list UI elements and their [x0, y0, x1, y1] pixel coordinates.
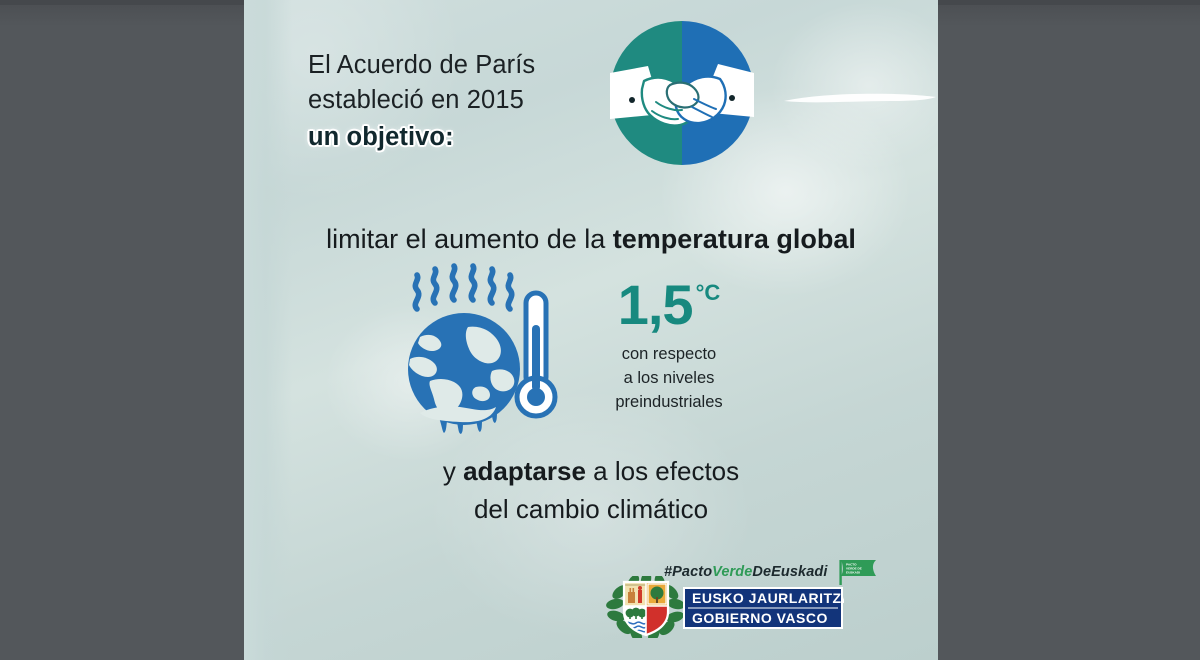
- temperature-note-line-2: a los niveles: [574, 366, 764, 390]
- headline-objective: un objetivo:: [308, 120, 454, 155]
- warming-globe-icon: [386, 263, 566, 435]
- temperature-target-block: 1,5°C con respecto a los niveles preindu…: [574, 276, 764, 414]
- adaptation-line-1: y adaptarse a los efectos: [244, 452, 938, 490]
- main-statement: limitar el aumento de la temperatura glo…: [244, 222, 938, 256]
- adaptation-line-2: del cambio climático: [244, 490, 938, 528]
- adaptation-statement: y adaptarse a los efectos del cambio cli…: [244, 452, 938, 528]
- main-statement-emphasis: temperatura global: [613, 224, 856, 254]
- temperature-note: con respecto a los niveles preindustrial…: [574, 342, 764, 414]
- headline-line-2: estableció en 2015: [308, 83, 638, 118]
- headline-line-1: El Acuerdo de París: [308, 48, 638, 83]
- temperature-note-line-3: preindustriales: [574, 390, 764, 414]
- temperature-readout: 1,5°C: [574, 276, 764, 334]
- headline-block: El Acuerdo de París estableció en 2015 u…: [308, 48, 638, 155]
- video-player-viewport: El Acuerdo de París estableció en 2015 u…: [0, 0, 1200, 660]
- temperature-note-line-1: con respecto: [574, 342, 764, 366]
- temperature-unit: °C: [696, 282, 721, 304]
- govt-name-line-1: EUSKO JAURLARITZA: [692, 590, 844, 606]
- gobierno-vasco-logo: EUSKO JAURLARITZA GOBIERNO VASCO: [604, 576, 844, 638]
- white-brush-stroke: [782, 86, 938, 108]
- temperature-value: 1,5: [618, 276, 693, 334]
- adaptation-emphasis: adaptarse: [463, 456, 586, 486]
- main-statement-lead: limitar el aumento de la: [326, 224, 613, 254]
- adaptation-line-1-post: a los efectos: [586, 456, 739, 486]
- flag-text-line-3: EUSKADI: [846, 570, 860, 574]
- adaptation-line-1-pre: y: [443, 456, 463, 486]
- govt-name-line-2: GOBIERNO VASCO: [692, 610, 828, 626]
- handshake-icon: [608, 19, 756, 167]
- infographic-content-area: El Acuerdo de París estableció en 2015 u…: [244, 0, 938, 660]
